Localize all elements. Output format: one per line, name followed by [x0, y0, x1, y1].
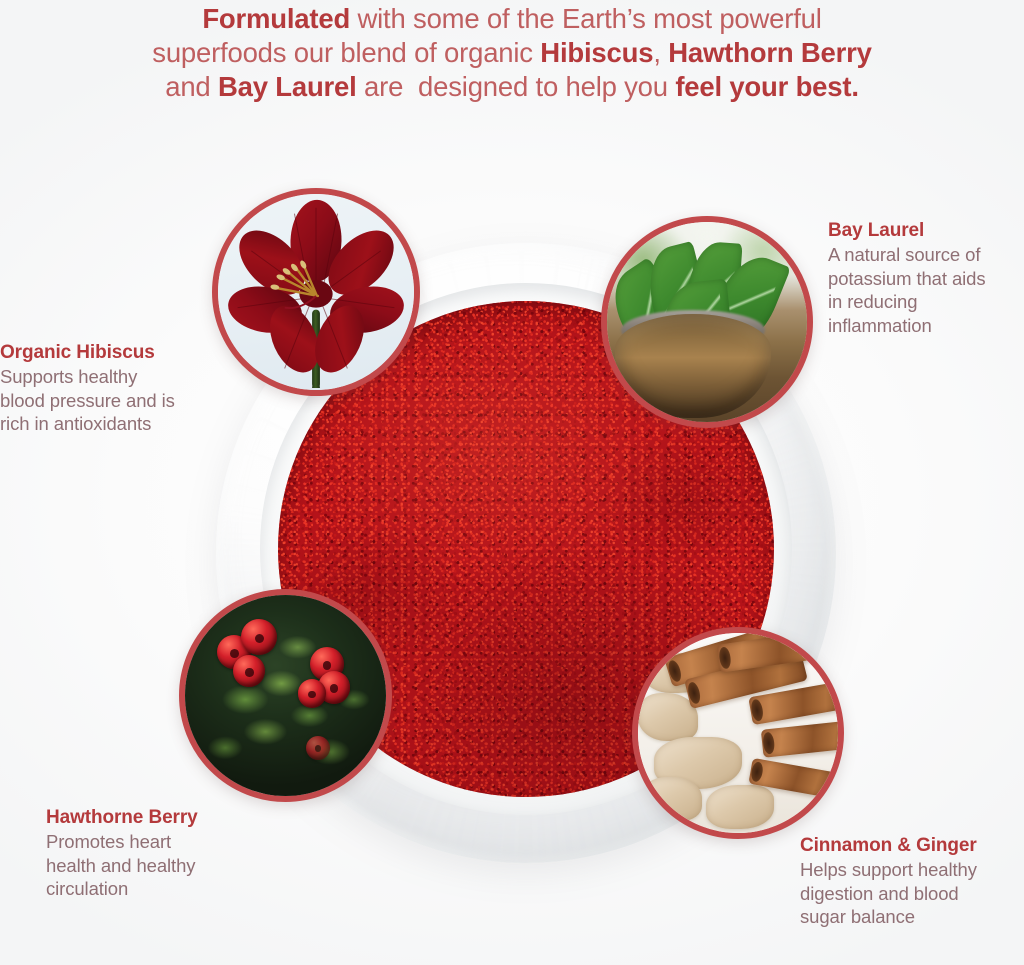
ingredient-photo-hawthorne-berry[interactable]	[179, 589, 392, 802]
cinnamon-stick-hole	[718, 647, 732, 670]
label-title-hawthorne-berry: Hawthorne Berry	[46, 806, 286, 830]
label-description-bay-laurel: A natural source of potassium that aids …	[828, 243, 1024, 337]
cinnamon-stick-hole	[762, 732, 775, 754]
infographic-stage: Formulated with some of the Earth’s most…	[0, 0, 1024, 965]
headline-line1-rest: with some of the Earth’s most powerful	[350, 3, 822, 34]
label-title-hibiscus: Organic Hibiscus	[0, 341, 230, 365]
headline-line3-a: and	[165, 71, 218, 102]
dried-ginger	[642, 777, 702, 821]
hibiscus-flower-art	[218, 194, 414, 390]
headline-bold-feel-your-best: feel your best.	[675, 71, 858, 102]
cinnamon-stick	[761, 720, 844, 757]
label-bay-laurel: Bay Laurel A natural source of potassium…	[828, 219, 1024, 337]
wooden-bowl	[615, 314, 771, 418]
cinnamon-stick-hole	[750, 699, 765, 722]
headline-line2-comma: ,	[653, 37, 668, 68]
bay-leaves-in-bowl-photo	[607, 222, 807, 422]
label-description-cinnamon-ginger: Helps support healthy digestion and bloo…	[800, 858, 1024, 929]
headline-line3-b: are designed to help you	[357, 71, 676, 102]
hawthorn-berry	[298, 679, 326, 707]
label-cinnamon-ginger: Cinnamon & Ginger Helps support healthy …	[800, 834, 1024, 929]
ingredient-photo-hibiscus[interactable]	[212, 188, 420, 396]
label-hibiscus: Organic Hibiscus Supports healthy blood …	[0, 341, 230, 436]
hawthorn-berries-photo	[185, 595, 386, 796]
dried-ginger	[706, 785, 774, 829]
label-title-cinnamon-ginger: Cinnamon & Ginger	[800, 834, 1024, 858]
cinnamon-sticks-and-ginger-photo	[638, 633, 838, 833]
label-title-bay-laurel: Bay Laurel	[828, 219, 1024, 243]
headline-bold-formulated: Formulated	[202, 3, 350, 34]
label-hawthorne-berry: Hawthorne Berry Promotes heart health an…	[46, 806, 286, 901]
label-description-hibiscus: Supports healthy blood pressure and is r…	[0, 365, 230, 436]
headline-line2-a: superfoods our blend of organic	[152, 37, 540, 68]
hibiscus-flower-photo	[218, 194, 414, 390]
hawthorn-berry	[306, 736, 330, 760]
ingredient-photo-cinnamon-ginger[interactable]	[632, 627, 844, 839]
headline-bold-hawthorn-berry: Hawthorn Berry	[668, 37, 872, 68]
hawthorn-foliage	[185, 595, 386, 796]
ingredient-photo-bay-laurel[interactable]	[601, 216, 813, 428]
headline-bold-hibiscus: Hibiscus	[540, 37, 653, 68]
cinnamon-stick-hole	[750, 761, 764, 782]
headline-bold-bay-laurel: Bay Laurel	[218, 71, 357, 102]
label-description-hawthorne-berry: Promotes heart health and healthy circul…	[46, 830, 286, 901]
headline: Formulated with some of the Earth’s most…	[0, 2, 1024, 104]
